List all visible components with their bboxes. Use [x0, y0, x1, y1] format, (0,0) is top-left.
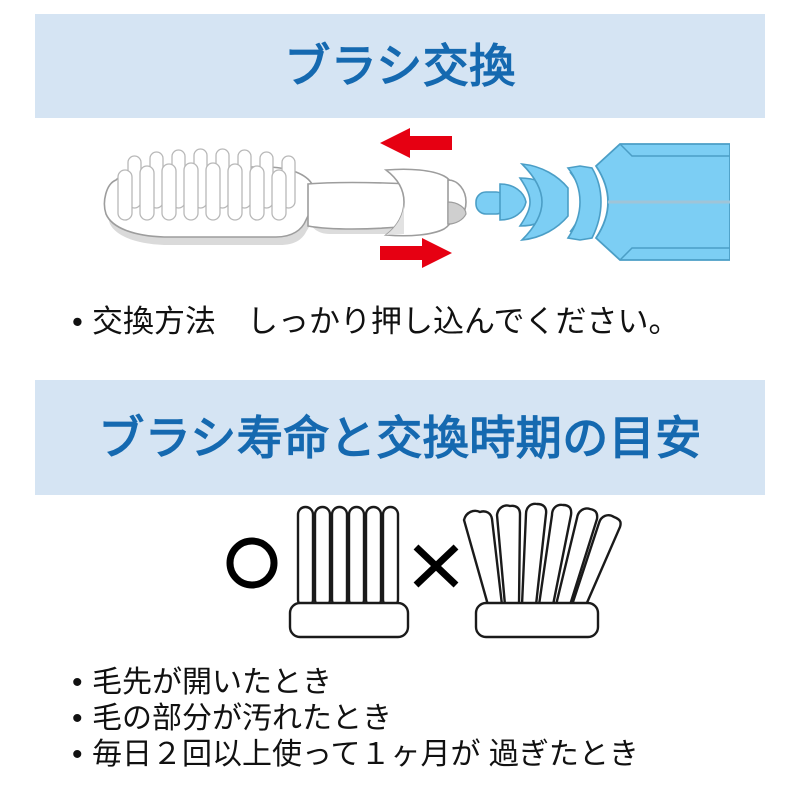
list-item: • 毎日２回以上使って１ヶ月が 過ぎたとき	[72, 737, 639, 773]
cross-mark-icon	[416, 547, 456, 585]
handle-neck	[520, 164, 601, 240]
brush-neck	[308, 169, 455, 236]
arrow-right-icon	[380, 238, 452, 268]
section-title-brush-lifetime: ブラシ寿命と交換時期の目安	[98, 415, 702, 461]
bristle-base-bad	[476, 603, 598, 637]
section-title-brush-replacement: ブラシ交換	[284, 43, 516, 89]
connector-shaft	[476, 184, 526, 220]
list-item-label: 毛先が開いたとき	[92, 665, 332, 701]
list-item-label: 毛の部分が汚れたとき	[92, 701, 392, 737]
list-item: • 毛先が開いたとき	[72, 665, 639, 701]
section-banner-brush-lifetime: ブラシ寿命と交換時期の目安	[35, 380, 765, 495]
circle-mark-icon	[230, 541, 274, 585]
list-item: • 交換方法 しっかり押し込んでください。	[72, 300, 679, 344]
bristle-base-good	[290, 603, 408, 637]
list-item-label: 毎日２回以上使って１ヶ月が 過ぎたとき	[92, 737, 639, 773]
bristles-splayed	[464, 504, 621, 605]
arrow-left-icon	[380, 128, 452, 158]
bullet-dot-icon: •	[72, 300, 92, 344]
bullet-dot-icon: •	[72, 737, 92, 773]
brush-replacement-diagram	[80, 122, 730, 287]
list-item: • 毛の部分が汚れたとき	[72, 701, 639, 737]
section-banner-brush-replacement: ブラシ交換	[35, 14, 765, 118]
replacement-method-list: • 交換方法 しっかり押し込んでください。	[72, 300, 679, 344]
brush-socket-end	[448, 180, 466, 224]
instruction-page: ブラシ交換	[0, 0, 800, 800]
replacement-timing-list: • 毛先が開いたとき • 毛の部分が汚れたとき • 毎日２回以上使って１ヶ月が …	[72, 665, 639, 773]
blue-handle-body	[596, 144, 730, 260]
bristles-straight	[298, 507, 398, 607]
bullet-dot-icon: •	[72, 701, 92, 737]
bristle-condition-comparison	[210, 495, 630, 645]
bullet-dot-icon: •	[72, 665, 92, 701]
list-item-label: 交換方法 しっかり押し込んでください。	[92, 300, 679, 344]
